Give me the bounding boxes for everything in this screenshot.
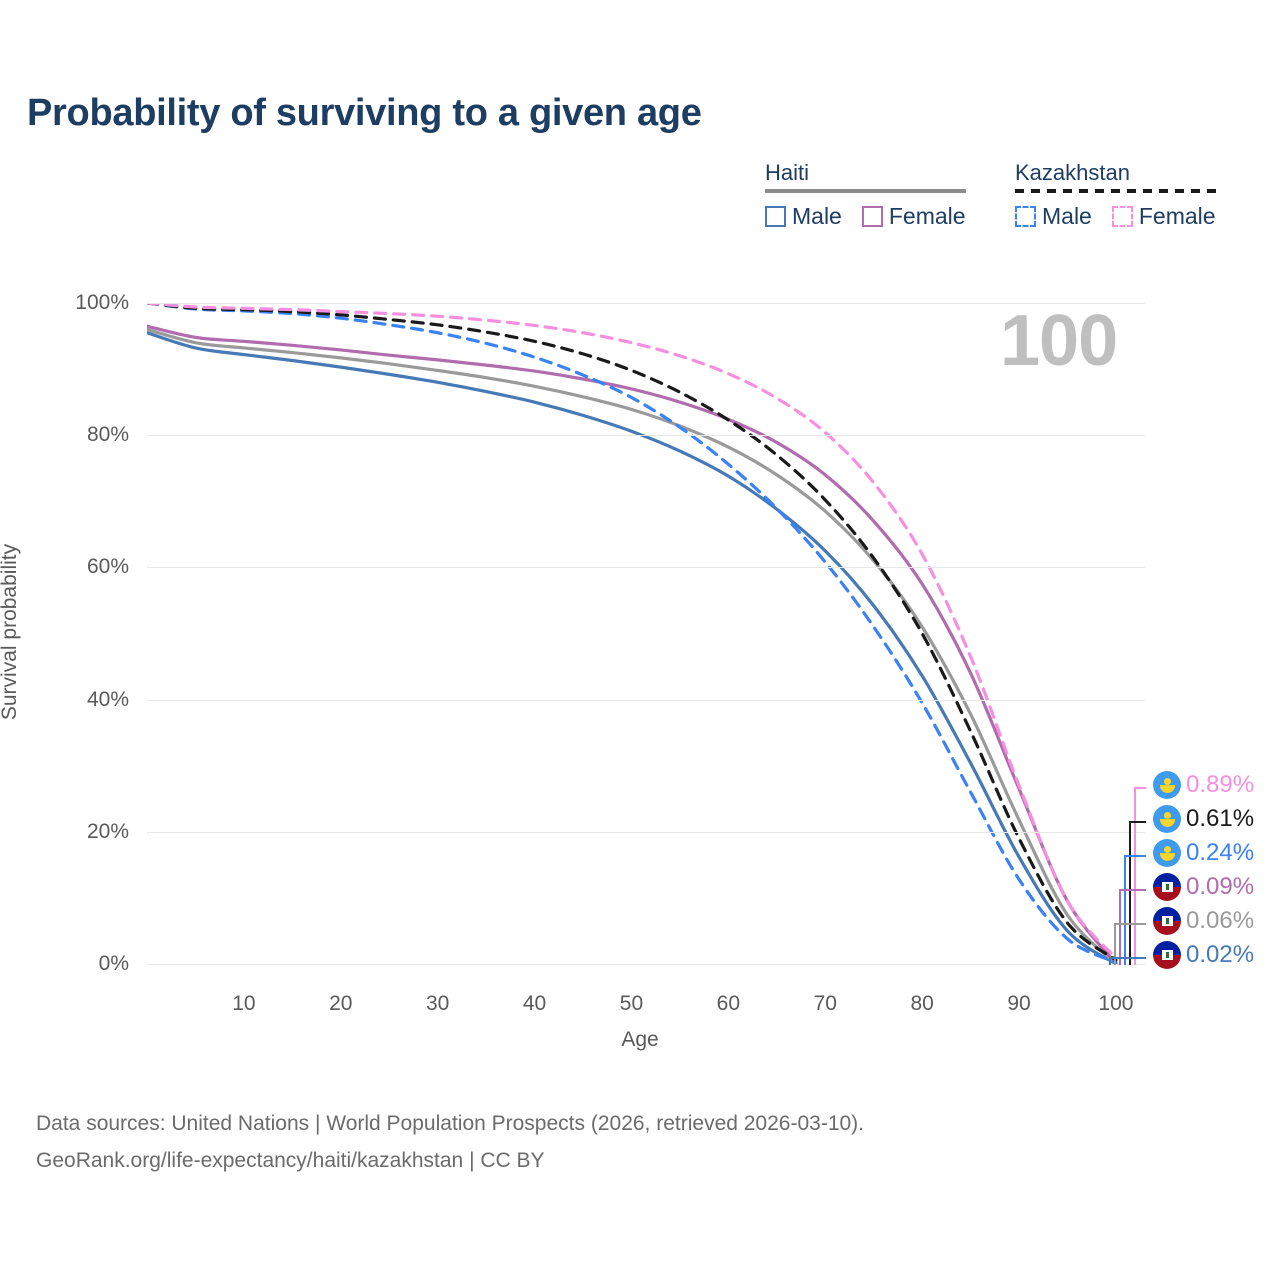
end-label-list: 0.89%0.61%0.24%0.09%0.06%0.02% bbox=[1145, 770, 1280, 975]
plot-area bbox=[147, 303, 1145, 964]
series-line bbox=[147, 329, 1116, 963]
end-label-row[interactable]: 0.89% bbox=[1153, 770, 1254, 800]
legend-item-kazakhstan-female[interactable]: Female bbox=[1112, 203, 1216, 230]
legend-rule-solid bbox=[765, 189, 966, 193]
end-label-value: 0.02% bbox=[1186, 941, 1254, 969]
connector-tick bbox=[1124, 855, 1146, 857]
legend-group-haiti: Haiti Male Female bbox=[765, 160, 966, 230]
connector-tick bbox=[1129, 821, 1146, 823]
end-label-row[interactable]: 0.24% bbox=[1153, 838, 1254, 868]
x-axis-title: Age bbox=[0, 1028, 1280, 1052]
legend-item-haiti-female[interactable]: Female bbox=[862, 203, 966, 230]
connector-line bbox=[1124, 855, 1126, 965]
haiti-flag-icon bbox=[1153, 873, 1181, 901]
kazakhstan-flag-icon bbox=[1153, 839, 1181, 867]
series-line bbox=[147, 326, 1116, 963]
end-label-value: 0.24% bbox=[1186, 839, 1254, 867]
chart-canvas bbox=[147, 303, 1145, 964]
kazakhstan-flag-icon bbox=[1153, 771, 1181, 799]
x-tick-label: 30 bbox=[426, 992, 449, 1016]
legend-label-kazakhstan-female: Female bbox=[1139, 203, 1216, 230]
chart-legend: Haiti Male Female Kazakhstan Male Female bbox=[755, 160, 1255, 246]
footer-line-2: GeoRank.org/life-expectancy/haiti/kazakh… bbox=[36, 1142, 864, 1179]
legend-item-haiti-male[interactable]: Male bbox=[765, 203, 842, 230]
legend-swatch-icon-haiti-female bbox=[862, 206, 883, 227]
x-tick-label: 60 bbox=[717, 992, 740, 1016]
y-tick-label: 0% bbox=[99, 952, 129, 976]
series-line bbox=[147, 303, 1116, 962]
legend-group-kazakhstan: Kazakhstan Male Female bbox=[1015, 160, 1216, 230]
legend-label-kazakhstan-male: Male bbox=[1042, 203, 1092, 230]
legend-item-kazakhstan-male[interactable]: Male bbox=[1015, 203, 1092, 230]
legend-group-title-haiti: Haiti bbox=[765, 160, 966, 186]
x-tick-label: 20 bbox=[329, 992, 352, 1016]
series-line bbox=[147, 333, 1116, 964]
end-label-row[interactable]: 0.61% bbox=[1153, 804, 1254, 834]
x-tick-label: 40 bbox=[523, 992, 546, 1016]
end-label-row[interactable]: 0.02% bbox=[1153, 940, 1254, 970]
legend-label-haiti-female: Female bbox=[889, 203, 966, 230]
y-tick-label: 60% bbox=[87, 555, 129, 579]
gridline bbox=[147, 832, 1145, 833]
end-label-value: 0.06% bbox=[1186, 907, 1254, 935]
kazakhstan-flag-icon bbox=[1153, 805, 1181, 833]
legend-label-haiti-male: Male bbox=[792, 203, 842, 230]
gridline bbox=[147, 435, 1145, 436]
gridline bbox=[147, 303, 1145, 304]
end-label-value: 0.61% bbox=[1186, 805, 1254, 833]
haiti-flag-icon bbox=[1153, 907, 1181, 935]
axis-watermark: 100 bbox=[1000, 300, 1117, 382]
x-tick-label: 100 bbox=[1098, 992, 1133, 1016]
y-tick-label: 40% bbox=[87, 688, 129, 712]
connector-tick bbox=[1119, 889, 1146, 891]
page-title: Probability of surviving to a given age bbox=[27, 92, 702, 135]
end-label-value: 0.89% bbox=[1186, 771, 1254, 799]
y-tick-label: 80% bbox=[87, 423, 129, 447]
connector-tick bbox=[1114, 923, 1146, 925]
legend-rule-dashed bbox=[1015, 189, 1216, 193]
x-tick-label: 50 bbox=[620, 992, 643, 1016]
footer-sources: Data sources: United Nations | World Pop… bbox=[36, 1105, 864, 1179]
legend-swatch-icon-kazakhstan-male bbox=[1015, 206, 1036, 227]
end-label-row[interactable]: 0.09% bbox=[1153, 872, 1254, 902]
footer-line-1: Data sources: United Nations | World Pop… bbox=[36, 1105, 864, 1142]
x-tick-label: 80 bbox=[910, 992, 933, 1016]
gridline bbox=[147, 964, 1145, 965]
x-tick-label: 90 bbox=[1007, 992, 1030, 1016]
y-tick-label: 100% bbox=[75, 291, 129, 315]
series-line bbox=[147, 303, 1116, 960]
connector-line bbox=[1119, 889, 1121, 965]
legend-swatch-icon-haiti-male bbox=[765, 206, 786, 227]
y-tick-label: 20% bbox=[87, 820, 129, 844]
series-line bbox=[147, 303, 1116, 958]
legend-swatch-icon-kazakhstan-female bbox=[1112, 206, 1133, 227]
x-tick-label: 10 bbox=[232, 992, 255, 1016]
end-label-value: 0.09% bbox=[1186, 873, 1254, 901]
gridline bbox=[147, 567, 1145, 568]
y-axis-title: Survival probability bbox=[0, 372, 22, 892]
connector-line bbox=[1129, 821, 1131, 965]
x-tick-label: 70 bbox=[814, 992, 837, 1016]
legend-group-title-kazakhstan: Kazakhstan bbox=[1015, 160, 1216, 186]
end-label-row[interactable]: 0.06% bbox=[1153, 906, 1254, 936]
connector-line bbox=[1134, 787, 1136, 965]
gridline bbox=[147, 700, 1145, 701]
connector-tick bbox=[1109, 957, 1146, 959]
haiti-flag-icon bbox=[1153, 941, 1181, 969]
